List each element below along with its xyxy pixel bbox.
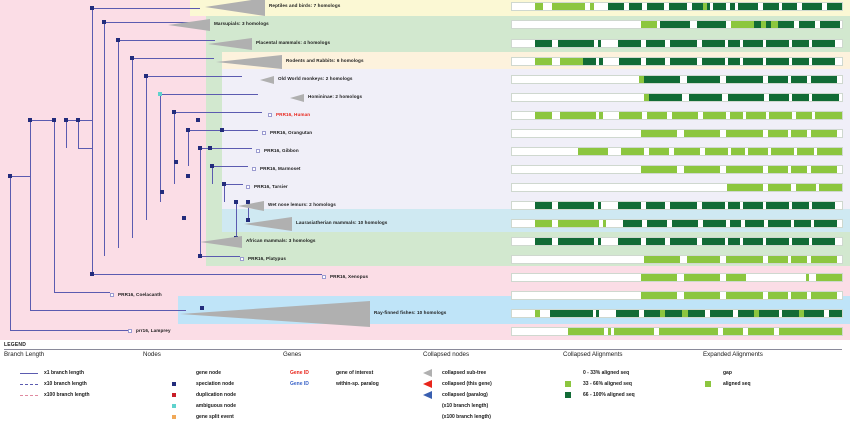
- node-legend-label-0: gene node: [196, 370, 221, 376]
- collapsed-node-label[interactable]: Old World monkeys: 2 homologs: [278, 77, 353, 82]
- alignment-segment: [703, 220, 726, 227]
- gene-leaf-label[interactable]: prr16, Lamprey: [136, 329, 171, 334]
- alignment-segment: [797, 148, 814, 155]
- node-legend-label-4: gene split event: [196, 414, 234, 420]
- branch-length-sample-1: [20, 384, 38, 385]
- node-swatch-1: [172, 382, 176, 386]
- speciation-node[interactable]: [102, 20, 106, 24]
- gene-leaf-label[interactable]: PRR16, Orangutan: [270, 131, 312, 136]
- gene-leaf-label[interactable]: PRR16, Marmoset: [260, 167, 301, 172]
- tree-branch-vertical: [78, 120, 79, 148]
- speciation-node[interactable]: [8, 174, 12, 178]
- alignment-segment: [710, 310, 733, 317]
- collapsed-subtree-triangle[interactable]: [244, 217, 292, 231]
- alignment-segment: [771, 21, 778, 28]
- tree-branch-dashed-lamprey: [10, 330, 128, 331]
- tree-branch-vertical: [10, 176, 11, 330]
- collapsed-subtree-triangle[interactable]: [208, 38, 252, 50]
- collapsed-aln-label-2: 66 - 100% aligned seq: [583, 392, 635, 398]
- alignment-segment: [599, 310, 616, 317]
- alignment-bar[interactable]: [512, 58, 842, 65]
- node-legend-label-1: speciation node: [196, 381, 234, 387]
- alignment-segment: [535, 58, 552, 65]
- branch-length-label-2: x100 branch length: [44, 392, 90, 398]
- legend-col-collapsed-nodes: Collapsed nodes: [423, 351, 469, 358]
- alignment-segment: [791, 76, 808, 83]
- alignment-segment: [812, 202, 835, 209]
- speciation-node[interactable]: [64, 118, 68, 122]
- alignment-segment: [743, 58, 763, 65]
- alignment-segment: [512, 148, 578, 155]
- collapsed-legend-label-4: (x100 branch length): [442, 414, 491, 420]
- alignment-segment: [726, 76, 762, 83]
- alignment-segment: [512, 238, 535, 245]
- alignment-segment: [684, 292, 720, 299]
- alignment-segment: [680, 256, 687, 263]
- tree-branch-horizontal: [200, 256, 240, 257]
- collapsed-legend-label-0: collapsed sub-tree: [442, 370, 486, 376]
- alignment-segment: [763, 3, 780, 10]
- alignment-segment: [535, 40, 552, 47]
- speciation-node[interactable]: [198, 254, 202, 258]
- speciation-node[interactable]: [208, 146, 212, 150]
- branch-length-label-1: x10 branch length: [44, 381, 87, 387]
- speciation-node[interactable]: [28, 118, 32, 122]
- alignment-segment: [692, 3, 704, 10]
- alignment-segment: [768, 130, 788, 137]
- collapsed-node-label[interactable]: Wet nose lemurs: 2 homologs: [268, 203, 336, 208]
- alignment-segment: [512, 40, 535, 47]
- alignment-segment: [766, 40, 789, 47]
- alignment-segment: [731, 148, 744, 155]
- alignment-segment: [682, 94, 689, 101]
- alignment-segment: [647, 220, 667, 227]
- tree-branch-vertical: [30, 120, 31, 310]
- speciation-node[interactable]: [90, 6, 94, 10]
- gene-leaf-label[interactable]: PRR16, Tarsier: [254, 185, 288, 190]
- speciation-node[interactable]: [130, 56, 134, 60]
- gene-leaf-label[interactable]: PRR16, Gibbon: [264, 149, 299, 154]
- alignment-segment: [540, 310, 550, 317]
- alignment-segment: [677, 274, 684, 281]
- collapsed-node-label[interactable]: Marsupials: 3 homologs: [214, 22, 269, 27]
- alignment-segment: [702, 202, 725, 209]
- speciation-node[interactable]: [222, 182, 226, 186]
- alignment-segment: [535, 112, 552, 119]
- collapsed-node-label[interactable]: Homininae: 2 homologs: [308, 95, 362, 100]
- alignment-segment: [619, 58, 640, 65]
- alignment-segment: [646, 238, 666, 245]
- alignment-segment: [629, 3, 642, 10]
- gene-leaf-label[interactable]: PRR16, Human: [276, 113, 310, 118]
- alignment-segment: [608, 148, 621, 155]
- alignment-segment: [674, 148, 700, 155]
- alignment-segment: [684, 130, 720, 137]
- alignment-segment: [616, 310, 639, 317]
- gene-leaf-node[interactable]: [246, 185, 250, 189]
- alignment-segment: [811, 292, 837, 299]
- alignment-segment: [618, 202, 641, 209]
- speciation-node[interactable]: [174, 160, 178, 164]
- alignment-segment: [670, 58, 696, 65]
- alignment-segment: [728, 58, 740, 65]
- alignment-segment: [688, 310, 705, 317]
- alignment-segment: [782, 310, 799, 317]
- alignment-segment: [641, 274, 677, 281]
- alignment-segment: [669, 3, 687, 10]
- alignment-segment: [728, 40, 740, 47]
- alignment-segment: [603, 112, 620, 119]
- alignment-segment: [791, 166, 808, 173]
- alignment-segment: [792, 40, 809, 47]
- alignment-bar[interactable]: [512, 130, 842, 137]
- alignment-segment: [647, 112, 667, 119]
- alignment-bar[interactable]: [512, 21, 842, 28]
- alignment-segment: [720, 256, 727, 263]
- alignment-segment: [728, 202, 740, 209]
- alignment-segment: [512, 58, 535, 65]
- alignment-segment: [746, 112, 766, 119]
- alignment-segment: [753, 274, 806, 281]
- alignment-segment: [746, 274, 753, 281]
- alignment-segment: [512, 256, 644, 263]
- alignment-segment: [680, 76, 687, 83]
- gene-legend-desc-1: within-sp. paralog: [336, 381, 379, 387]
- collapsed-node-label[interactable]: Ray-finned fishes: 10 homologs: [374, 311, 446, 316]
- alignment-segment: [766, 238, 789, 245]
- alignment-bar[interactable]: [512, 292, 842, 299]
- alignment-segment: [672, 220, 698, 227]
- alignment-segment: [558, 238, 594, 245]
- speciation-node[interactable]: [210, 164, 214, 168]
- alignment-segment: [649, 94, 682, 101]
- speciation-node[interactable]: [90, 272, 94, 276]
- collapsed-aln-swatch-1: [565, 381, 571, 387]
- gene-leaf-node[interactable]: [262, 131, 266, 135]
- alignment-segment: [614, 328, 654, 335]
- collapsed-subtree-triangle[interactable]: [290, 94, 304, 102]
- tree-branch-horizontal: [10, 176, 30, 177]
- alignment-bar[interactable]: [512, 256, 842, 263]
- gene-legend-desc-0: gene of interest: [336, 370, 373, 376]
- speciation-node[interactable]: [116, 38, 120, 42]
- alignment-segment: [768, 184, 791, 191]
- speciation-node[interactable]: [196, 118, 200, 122]
- tree-branch-vertical: [118, 40, 119, 248]
- alignment-segment: [726, 256, 762, 263]
- alignment-segment: [535, 202, 552, 209]
- node-swatch-2: [172, 393, 176, 397]
- gene-leaf-node[interactable]: [322, 275, 326, 279]
- alignment-segment: [594, 3, 607, 10]
- tree-branch-horizontal: [78, 148, 92, 149]
- expanded-aln-label-0: gap: [723, 370, 732, 376]
- legend-panel: LEGEND Branch Length Nodes Genes Collaps…: [0, 340, 850, 445]
- tree-branch-horizontal: [146, 76, 242, 77]
- alignment-segment: [618, 40, 641, 47]
- alignment-bar[interactable]: [512, 220, 842, 227]
- alignment-segment: [618, 238, 641, 245]
- collapsed-node-label[interactable]: Reptiles and birds: 7 homologs: [269, 4, 340, 9]
- legend-title: LEGEND: [4, 342, 26, 348]
- speciation-node[interactable]: [220, 128, 224, 132]
- collapsed-subtree-triangle[interactable]: [216, 55, 282, 69]
- gene-leaf-node[interactable]: [256, 149, 260, 153]
- alignment-bar[interactable]: [512, 202, 842, 209]
- alignment-segment: [512, 328, 568, 335]
- alignment-segment: [512, 76, 639, 83]
- phylogenetic-tree-panel: Reptiles and birds: 7 homologsMarsupials…: [0, 0, 850, 340]
- speciation-node[interactable]: [76, 118, 80, 122]
- alignment-segment: [811, 166, 837, 173]
- collapsed-subtree-triangle[interactable]: [180, 301, 370, 327]
- alignment-segment: [552, 202, 559, 209]
- speciation-node[interactable]: [182, 216, 186, 220]
- alignment-segment: [720, 76, 727, 83]
- alignment-segment: [726, 292, 762, 299]
- collapsed-subtree-triangle[interactable]: [205, 0, 265, 16]
- alignment-segment: [771, 148, 794, 155]
- alignment-segment: [792, 202, 809, 209]
- alignment-segment: [840, 21, 842, 28]
- alignment-segment: [558, 202, 594, 209]
- alignment-segment: [811, 130, 837, 137]
- alignment-segment: [543, 3, 551, 10]
- alignment-segment: [792, 238, 809, 245]
- gene-leaf-node[interactable]: [252, 167, 256, 171]
- speciation-node[interactable]: [160, 190, 164, 194]
- collapsed-legend-label-1: collapsed (this gene): [442, 381, 492, 387]
- speciation-node[interactable]: [52, 118, 56, 122]
- alignment-segment: [723, 328, 743, 335]
- alignment-segment: [792, 94, 809, 101]
- legend-col-expanded-alignments: Expanded Alignments: [703, 351, 763, 358]
- alignment-segment: [782, 3, 797, 10]
- legend-col-genes: Genes: [283, 351, 301, 358]
- alignment-segment: [644, 310, 661, 317]
- alignment-segment: [644, 256, 680, 263]
- alignment-segment: [552, 238, 559, 245]
- alignment-segment: [512, 21, 641, 28]
- tree-branch-vertical: [160, 94, 161, 202]
- alignment-segment: [791, 292, 808, 299]
- speciation-node[interactable]: [144, 74, 148, 78]
- collapsed-subtree-triangle[interactable]: [238, 201, 264, 211]
- tree-branch-vertical: [224, 184, 225, 202]
- alignment-bar[interactable]: [512, 166, 842, 173]
- collapsed-node-label[interactable]: Laurasiatherian mammals: 10 homologs: [296, 221, 387, 226]
- alignment-bar[interactable]: [512, 238, 842, 245]
- alignment-segment: [512, 274, 641, 281]
- alignment-segment: [726, 166, 762, 173]
- tree-branch-horizontal: [92, 274, 322, 275]
- alignment-segment: [623, 220, 643, 227]
- alignment-segment: [621, 148, 644, 155]
- alignment-segment: [601, 238, 618, 245]
- branch-length-sample-2: [20, 395, 38, 396]
- alignment-segment: [768, 256, 788, 263]
- alignment-segment: [644, 76, 680, 83]
- alignment-segment: [568, 328, 604, 335]
- alignment-segment: [583, 58, 596, 65]
- collapsed-triangle-swatch-0: [423, 369, 432, 377]
- collapsed-node-label[interactable]: African mammals: 3 homologs: [246, 239, 316, 244]
- tree-branch-horizontal: [132, 58, 214, 59]
- gene-leaf-label[interactable]: PRR16, Platypus: [248, 257, 286, 262]
- alignment-bar[interactable]: [512, 184, 842, 191]
- tree-branch-horizontal: [30, 310, 186, 311]
- alignment-segment: [697, 21, 727, 28]
- alignment-segment: [743, 40, 763, 47]
- collapsed-aln-label-1: 33 - 66% aligned seq: [583, 381, 632, 387]
- alignment-segment: [677, 292, 684, 299]
- alignment-segment: [558, 220, 599, 227]
- alignment-segment: [552, 112, 560, 119]
- alignment-segment: [659, 328, 718, 335]
- alignment-segment: [641, 130, 677, 137]
- tree-branch-horizontal: [160, 94, 258, 95]
- alignment-segment: [738, 310, 755, 317]
- alignment-segment: [535, 3, 543, 10]
- alignment-segment: [754, 21, 761, 28]
- legend-divider: [4, 349, 842, 350]
- alignment-segment: [768, 292, 788, 299]
- alignment-segment: [811, 76, 837, 83]
- tree-branch-vertical: [54, 120, 55, 292]
- alignment-segment: [641, 166, 677, 173]
- alignment-segment: [791, 256, 808, 263]
- alignment-segment: [677, 166, 684, 173]
- alignment-segment: [552, 3, 585, 10]
- alignment-segment: [829, 310, 842, 317]
- alignment-bar[interactable]: [512, 3, 842, 10]
- alignment-segment: [720, 130, 727, 137]
- alignment-segment: [759, 310, 779, 317]
- alignment-segment: [748, 328, 774, 335]
- alignment-segment: [792, 58, 809, 65]
- alignment-segment: [641, 292, 677, 299]
- alignment-segment: [512, 220, 535, 227]
- ambiguous-node[interactable]: [158, 92, 162, 96]
- alignment-segment: [819, 184, 842, 191]
- alignment-segment: [552, 58, 560, 65]
- collapsed-legend-label-2: collapsed (paralog): [442, 392, 488, 398]
- tree-branch-vertical: [146, 76, 147, 220]
- speciation-node[interactable]: [172, 110, 176, 114]
- collapsed-subtree-triangle[interactable]: [168, 19, 210, 31]
- expanded-aln-label-1: aligned seq: [723, 381, 751, 387]
- alignment-segment: [720, 166, 727, 173]
- alignment-segment: [646, 202, 666, 209]
- gene-leaf-node[interactable]: [268, 113, 272, 117]
- alignment-segment: [512, 3, 535, 10]
- alignment-segment: [745, 220, 765, 227]
- alignment-segment: [791, 130, 808, 137]
- alignment-segment: [601, 202, 618, 209]
- alignment-segment: [649, 148, 669, 155]
- alignment-segment: [684, 166, 720, 173]
- collapsed-aln-swatch-2: [565, 392, 571, 398]
- alignment-segment: [720, 274, 727, 281]
- alignment-segment: [608, 3, 625, 10]
- gene-leaf-label[interactable]: PRR16, Xenopus: [330, 275, 368, 280]
- alignment-segment: [665, 310, 682, 317]
- alignment-segment: [535, 238, 552, 245]
- alignment-segment: [796, 184, 816, 191]
- alignment-segment: [672, 112, 698, 119]
- collapsed-subtree-triangle[interactable]: [260, 76, 274, 84]
- alignment-segment: [812, 40, 835, 47]
- alignment-segment: [702, 58, 725, 65]
- alignment-segment: [720, 292, 727, 299]
- tree-branch-horizontal: [224, 184, 243, 185]
- gene-leaf-label[interactable]: PRR16, Coelacanth: [118, 293, 162, 298]
- alignment-bar[interactable]: [512, 40, 842, 47]
- tree-branch-vertical: [188, 130, 189, 166]
- alignment-segment: [689, 94, 722, 101]
- tree-branch-horizontal: [212, 166, 248, 167]
- legend-col-collapsed-alignments: Collapsed Alignments: [563, 351, 623, 358]
- gene-legend-tag-1: Gene ID: [290, 381, 309, 387]
- alignment-segment: [512, 130, 641, 137]
- alignment-segment: [606, 220, 623, 227]
- legend-col-nodes: Nodes: [143, 351, 161, 358]
- gene-leaf-node[interactable]: [110, 293, 114, 297]
- tree-branch-horizontal: [92, 8, 200, 9]
- alignment-segment: [684, 274, 720, 281]
- tree-branch-vertical: [104, 22, 105, 256]
- alignment-segment: [796, 112, 813, 119]
- alignment-segment: [727, 184, 763, 191]
- alignment-bar[interactable]: [512, 310, 842, 317]
- gene-leaf-node[interactable]: [240, 257, 244, 261]
- collapsed-subtree-triangle[interactable]: [200, 236, 242, 248]
- alignment-segment: [816, 274, 842, 281]
- alignment-segment: [512, 112, 535, 119]
- alignment-bar[interactable]: [512, 274, 842, 281]
- gene-legend-tag-0: Gene ID: [290, 370, 309, 376]
- tree-branch-horizontal: [118, 40, 215, 41]
- alignment-segment: [702, 40, 725, 47]
- node-legend-label-2: duplication node: [196, 392, 236, 398]
- speciation-node[interactable]: [198, 146, 202, 150]
- collapsed-node-label[interactable]: Placental mammals: 4 homologs: [256, 41, 330, 46]
- alignment-segment: [817, 148, 842, 155]
- tree-branch-horizontal: [54, 292, 110, 293]
- alignment-segment: [578, 148, 608, 155]
- alignment-bar[interactable]: [512, 148, 842, 155]
- legend-col-branch-length: Branch Length: [4, 351, 44, 358]
- alignment-bar[interactable]: [512, 76, 842, 83]
- alignment-bar[interactable]: [512, 328, 842, 335]
- alignment-bar[interactable]: [512, 112, 842, 119]
- collapsed-triangle-swatch-1: [423, 380, 432, 388]
- branch-length-sample-0: [20, 373, 38, 374]
- alignment-bar[interactable]: [512, 94, 842, 101]
- gene-leaf-node[interactable]: [128, 329, 132, 333]
- collapsed-node-label[interactable]: Rodents and Rabbits: 6 homologs: [286, 59, 364, 64]
- alignment-segment: [552, 40, 559, 47]
- alignment-segment: [660, 21, 690, 28]
- speciation-node[interactable]: [186, 128, 190, 132]
- alignment-segment: [804, 310, 824, 317]
- node-legend-label-3: ambiguous node: [196, 403, 236, 409]
- tree-branch-vertical: [66, 120, 67, 148]
- speciation-node[interactable]: [186, 174, 190, 178]
- alignment-segment: [703, 112, 726, 119]
- alignment-segment: [726, 274, 746, 281]
- alignment-segment: [743, 202, 763, 209]
